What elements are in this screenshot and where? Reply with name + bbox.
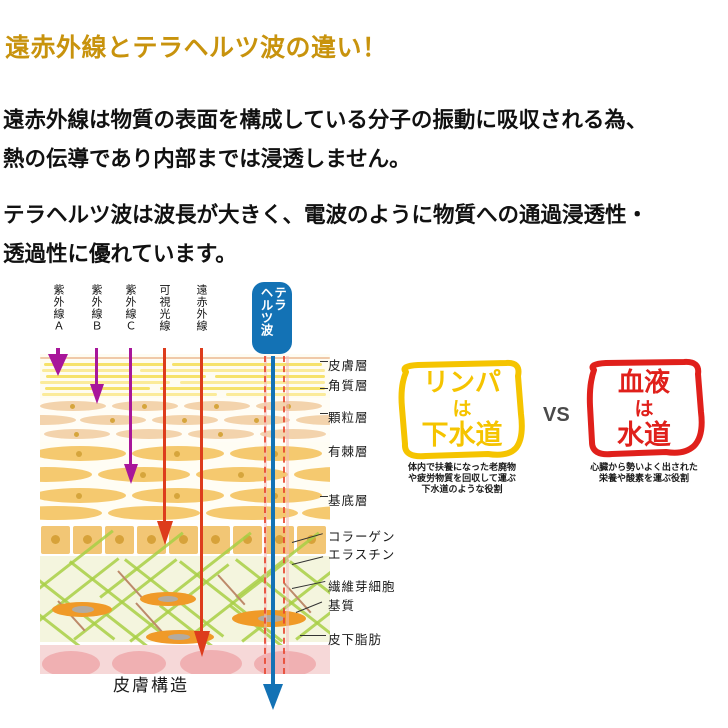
ray-label-uvb: 紫外線Ｂ [88, 284, 104, 346]
skin-label-fibroblast: 繊維芽細胞 [328, 576, 396, 595]
granular-cell [260, 429, 326, 439]
leader-line [320, 413, 328, 414]
cell-nucleus [76, 451, 82, 457]
terahertz-badge: テラ ヘルツ波 [252, 282, 292, 354]
cell-nucleus [142, 404, 147, 409]
cell-nucleus [51, 535, 60, 544]
skin-penetration-diagram: 紫外線Ａ 紫外線Ｂ 紫外線Ｃ 可視光線 遠赤外線 テラ ヘルツ波 [0, 278, 728, 728]
skin-label-basal: 基底層 [328, 490, 369, 509]
fibroblast-nucleus [72, 606, 94, 613]
blood-caption-line-2: 栄養や酸素を運ぶ役割 [572, 473, 716, 485]
page-title: 遠赤外線とテラヘルツ波の違い！ [5, 28, 388, 64]
blood-line-3: 水道 [572, 422, 716, 450]
cell-nucleus [182, 418, 187, 423]
leader-line [320, 496, 328, 497]
skin-label-subcutaneous-fat: 皮下脂肪 [328, 629, 382, 648]
ray-label-uvc: 紫外線Ｃ [122, 284, 138, 346]
fat-cell [180, 650, 242, 674]
ray-label-far-infrared: 遠赤外線 [193, 284, 209, 346]
terahertz-beam-glow [286, 356, 289, 674]
skin-label-collagen: コラーゲン [328, 526, 396, 545]
granular-cell [116, 429, 182, 439]
terahertz-beam [271, 356, 275, 686]
cell-nucleus [179, 535, 188, 544]
fibroblast-nucleus [168, 634, 190, 640]
cell-nucleus [76, 493, 82, 499]
corneum-stripe [172, 363, 322, 366]
paragraph-2-line-2: 透過性に優れています。 [3, 235, 648, 274]
ray-label-visible-light: 可視光線 [156, 284, 172, 346]
leader-line-fat [300, 635, 326, 636]
corneum-stripe [226, 393, 326, 396]
blood-bubble: 血液 は 水道 心臓から勢いよく出された 栄養や酸素を運ぶ役割 [572, 356, 716, 476]
paragraph-2: テラヘルツ波は波長が大きく、電波のように物質への通過浸透性・ 透過性に優れていま… [3, 196, 648, 274]
lymph-caption-line-3: 下水道のような役割 [388, 484, 536, 496]
paragraph-1: 遠赤外線は物質の表面を構成している分子の振動に吸収される為、 熱の伝導であり内部… [3, 101, 647, 179]
corneum-stripe [140, 369, 325, 372]
cell-nucleus [110, 418, 115, 423]
skin-label-corneum: 角質層 [328, 375, 369, 394]
terahertz-beam-arrowhead [263, 684, 283, 710]
cell-nucleus [115, 535, 124, 544]
blood-line-2: は [572, 400, 716, 419]
lymph-caption-line-2: や疲労物質を回収して運ぶ [388, 473, 536, 485]
cell-nucleus [74, 432, 79, 437]
paragraph-2-line-1: テラヘルツ波は波長が大きく、電波のように物質への通過浸透性・ [3, 196, 648, 235]
blood-caption-line-1: 心臓から勢いよく出された [572, 462, 716, 474]
skin-label-matrix: 基質 [328, 595, 355, 614]
skin-label-elastin: エラスチン [328, 544, 395, 563]
cell-nucleus [174, 493, 180, 499]
lymph-bubble: リンパ は 下水道 体内で扶養になった老廃物 や疲労物質を回収して運ぶ 下水道の… [388, 356, 536, 476]
terahertz-dash-left [264, 356, 266, 674]
lymph-line-1: リンパ [388, 370, 536, 397]
ray-label-uva: 紫外線Ａ [50, 284, 66, 346]
cell-nucleus [147, 535, 156, 544]
lymph-line-2: は [388, 400, 536, 419]
diagram-caption: 皮膚構造 [113, 671, 189, 696]
corneum-stripe [46, 375, 206, 378]
fibroblast-nucleus [158, 596, 178, 602]
skin-label-epidermis: 皮膚層 [328, 355, 369, 374]
lymph-caption-line-1: 体内で扶養になった老廃物 [388, 462, 536, 474]
cell-nucleus [70, 404, 75, 409]
vs-label: VS [543, 404, 570, 427]
corneum-stripe [215, 375, 325, 378]
cell-nucleus [140, 472, 146, 478]
cell-nucleus [83, 535, 92, 544]
paragraph-1-line-1: 遠赤外線は物質の表面を構成している分子の振動に吸収される為、 [3, 101, 647, 140]
cell-nucleus [254, 418, 259, 423]
cell-nucleus [218, 432, 223, 437]
terahertz-badge-col-left: ヘルツ波 [259, 286, 272, 336]
spinous-cell [108, 506, 200, 520]
cell-nucleus [174, 451, 180, 457]
skin-label-granular: 顆粒層 [328, 407, 369, 426]
leader-line [320, 388, 328, 389]
leader-line [320, 361, 328, 362]
corneum-stripe [160, 387, 325, 390]
paragraph-1-line-2: 熱の伝導であり内部までは浸透しません。 [3, 140, 647, 179]
terahertz-dash-right [283, 356, 285, 674]
fat-cell [42, 651, 100, 674]
terahertz-badge-col-right: テラ [273, 286, 286, 311]
corneum-stripe [40, 381, 170, 384]
cell-nucleus [238, 472, 244, 478]
lymph-line-3: 下水道 [388, 422, 536, 450]
blood-line-1: 血液 [572, 370, 716, 397]
cell-nucleus [211, 535, 220, 544]
skin-label-spinous: 有棘層 [328, 441, 369, 460]
cell-nucleus [214, 404, 219, 409]
